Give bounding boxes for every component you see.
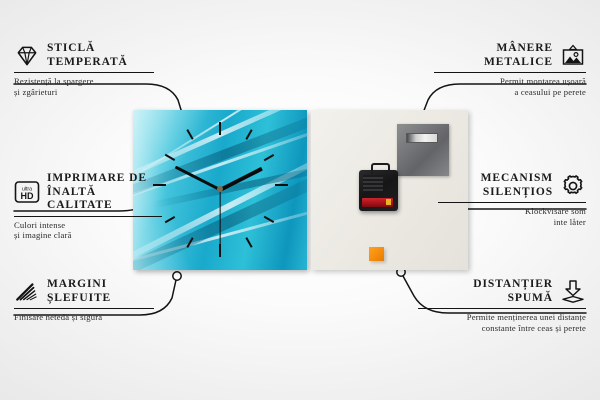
divider bbox=[14, 216, 162, 217]
feature-title: IMPRIMARE DE bbox=[47, 172, 162, 186]
clock-tick bbox=[219, 122, 221, 135]
feature-desc: Permit montarea ușoară bbox=[434, 76, 586, 87]
divider bbox=[438, 202, 586, 203]
feature-title-2: SILENȚIOS bbox=[481, 186, 553, 200]
svg-text:HD: HD bbox=[21, 191, 34, 201]
clock-tick bbox=[264, 154, 274, 161]
divider bbox=[14, 308, 154, 309]
feature-desc-2: a ceasului pe perete bbox=[434, 87, 586, 98]
aa-battery bbox=[362, 198, 393, 207]
feature-title: MECANISM bbox=[481, 172, 553, 186]
silent-clock-mechanism bbox=[359, 170, 398, 211]
clock-tick bbox=[275, 184, 288, 186]
mechanism-hanging-tab bbox=[371, 163, 390, 174]
feature-desc: Permite menținerea unei distanțe bbox=[418, 312, 586, 323]
divider bbox=[434, 72, 586, 73]
feature-title-2: TEMPERATĂ bbox=[47, 56, 128, 70]
ultra-hd-icon: ultra HD bbox=[14, 179, 40, 205]
feature-metal-handles: MÂNERE METALICE Permit montarea ușoară a… bbox=[434, 42, 586, 98]
feature-desc-2: și zgârieturi bbox=[14, 87, 154, 98]
mechanism-label bbox=[363, 175, 383, 191]
clock-tick bbox=[186, 129, 193, 139]
clock-center-cap bbox=[217, 186, 223, 192]
feature-desc: Rezistență la spargere bbox=[14, 76, 154, 87]
metal-hanger-plate bbox=[397, 124, 449, 176]
second-hand bbox=[219, 190, 220, 250]
orange-foam-spacer bbox=[369, 247, 384, 261]
polished-edges-icon bbox=[14, 279, 40, 305]
feature-desc: Finisare netedă și sigură bbox=[14, 312, 154, 323]
feature-title: MARGINI bbox=[47, 278, 111, 292]
feature-desc: Klockvisare som bbox=[438, 206, 586, 217]
feature-desc: Culori intense bbox=[14, 220, 162, 231]
feature-title: MÂNERE bbox=[484, 42, 553, 56]
feature-foam-spacer: DISTANȚIER SPUMĂ Permite menținerea unei… bbox=[418, 278, 586, 334]
feature-tempered-glass: STICLĂ TEMPERATĂ Rezistență la spargere … bbox=[14, 42, 154, 98]
feature-silent-mechanism: MECANISM SILENȚIOS Klockvisare som inte … bbox=[438, 172, 586, 228]
feature-desc-2: și imagine clară bbox=[14, 230, 162, 241]
feature-high-quality-print: ultra HD IMPRIMARE DE ÎNALTĂ CALITATE Cu… bbox=[14, 172, 162, 241]
clock-tick bbox=[245, 237, 252, 247]
divider bbox=[418, 308, 586, 309]
product-photo bbox=[133, 110, 468, 270]
feature-polished-edges: MARGINI ȘLEFUITE Finisare netedă și sigu… bbox=[14, 278, 154, 323]
feature-desc-2: inte låter bbox=[438, 217, 586, 228]
divider bbox=[14, 72, 154, 73]
feature-desc-2: constante între ceas și perete bbox=[418, 323, 586, 334]
press-down-arrow-icon bbox=[560, 279, 586, 305]
gear-icon bbox=[560, 173, 586, 199]
feature-title-2: SPUMĂ bbox=[473, 292, 553, 306]
infographic-canvas: STICLĂ TEMPERATĂ Rezistență la spargere … bbox=[0, 0, 600, 400]
feature-title: DISTANȚIER bbox=[473, 278, 553, 292]
battery-plus-terminal bbox=[386, 199, 391, 205]
hanger-keyhole-slot bbox=[406, 133, 438, 143]
picture-frame-hook-icon bbox=[560, 43, 586, 69]
feature-title-2: METALICE bbox=[484, 56, 553, 70]
feature-title-2: ÎNALTĂ CALITATE bbox=[47, 186, 162, 213]
diamond-icon bbox=[14, 43, 40, 69]
clock-tick bbox=[165, 216, 175, 223]
feature-title-2: ȘLEFUITE bbox=[47, 292, 111, 306]
feature-title: STICLĂ bbox=[47, 42, 128, 56]
